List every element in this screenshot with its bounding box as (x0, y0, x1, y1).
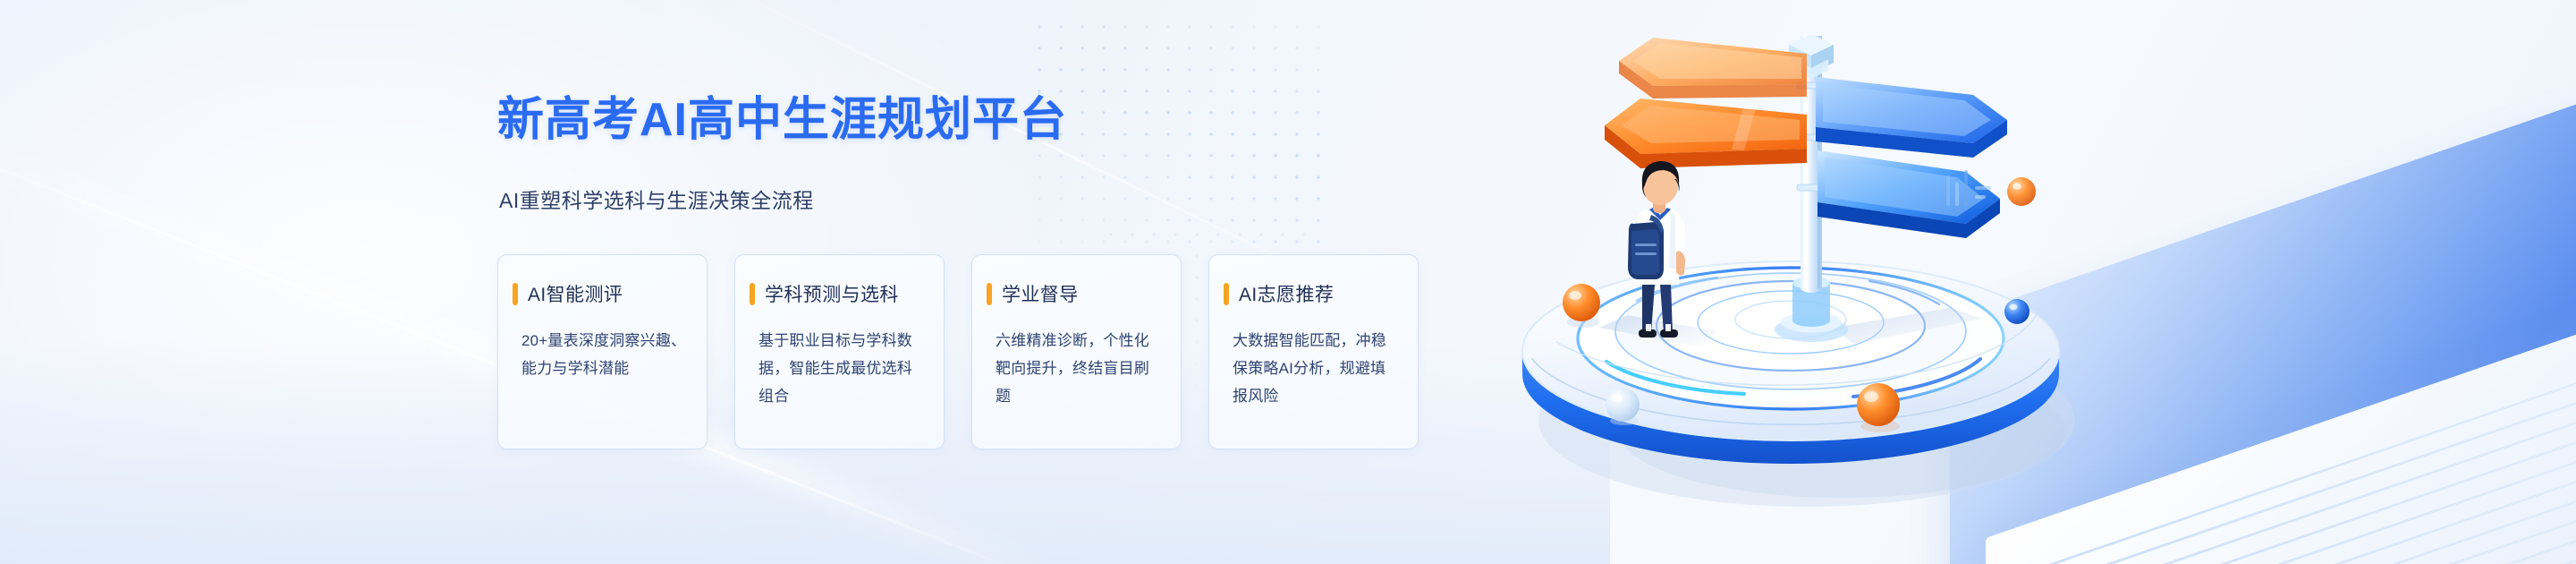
hero-content: 新高考AI高中生涯规划平台 AI重塑科学选科与生涯决策全流程 AI智能测评 20… (0, 0, 1521, 564)
card-description: 基于职业目标与学科数据，智能生成最优选科组合 (758, 327, 927, 410)
card-header: 学科预测与选科 (750, 280, 924, 307)
feature-card-subject-prediction[interactable]: 学科预测与选科 基于职业目标与学科数据，智能生成最优选科组合 (734, 254, 945, 449)
accent-bar-icon (1224, 283, 1229, 305)
feature-card-ai-assessment[interactable]: AI智能测评 20+量表深度洞察兴趣、能力与学科潜能 (497, 254, 708, 449)
card-description: 20+量表深度洞察兴趣、能力与学科潜能 (521, 327, 690, 382)
card-title: 学科预测与选科 (765, 280, 899, 307)
feature-card-ai-application-recommendation[interactable]: AI志愿推荐 大数据智能匹配，冲稳保策略AI分析，规避填报风险 (1208, 254, 1419, 449)
card-title: AI志愿推荐 (1239, 280, 1334, 307)
illustration-signpost-scene (1449, 0, 2111, 564)
accent-bar-icon (513, 283, 518, 305)
card-description: 大数据智能匹配，冲稳保策略AI分析，规避填报风险 (1233, 327, 1401, 410)
card-header: 学业督导 (987, 280, 1161, 307)
card-header: AI智能测评 (513, 280, 687, 307)
page-subtitle: AI重塑科学选科与生涯决策全流程 (499, 184, 814, 214)
card-description: 六维精准诊断，个性化靶向提升，终结盲目刷题 (996, 327, 1164, 410)
page-title: 新高考AI高中生涯规划平台 (497, 97, 1067, 143)
feature-card-academic-supervision[interactable]: 学业督导 六维精准诊断，个性化靶向提升，终结盲目刷题 (971, 254, 1182, 449)
card-header: AI志愿推荐 (1224, 280, 1398, 307)
card-title: 学业督导 (1002, 280, 1079, 307)
hero-banner: 新高考AI高中生涯规划平台 AI重塑科学选科与生涯决策全流程 AI智能测评 20… (0, 0, 2576, 564)
accent-bar-icon (750, 283, 755, 305)
feature-card-list: AI智能测评 20+量表深度洞察兴趣、能力与学科潜能 学科预测与选科 基于职业目… (497, 254, 1419, 449)
accent-bar-icon (987, 283, 992, 305)
card-title: AI智能测评 (528, 280, 623, 307)
